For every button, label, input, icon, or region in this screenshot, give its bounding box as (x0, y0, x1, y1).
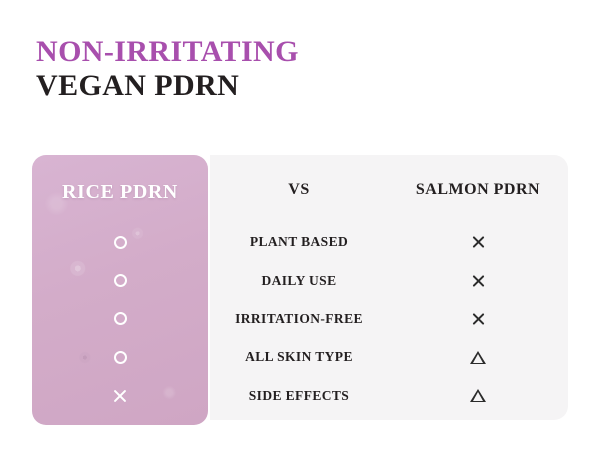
rice-pdrn-mark-side-effects (32, 377, 208, 415)
infographic-root: NON-IRRITATING VEGAN PDRN RICE PDRN (0, 0, 600, 450)
page-title-line-1: NON-IRRITATING (36, 36, 556, 68)
table-row: PLANT BASED (210, 223, 568, 261)
row-mark-daily-use (388, 273, 568, 288)
triangle-icon (470, 389, 486, 402)
rice-pdrn-card-title: RICE PDRN (32, 181, 208, 204)
comparison-table-body: PLANT BASED DAILY USE IRRITATION-FREE (210, 223, 568, 415)
rice-pdrn-mark-all-skin-type (32, 338, 208, 376)
rice-pdrn-card: RICE PDRN (32, 155, 208, 425)
cross-icon (471, 273, 486, 288)
page-title: NON-IRRITATING VEGAN PDRN (36, 36, 556, 102)
cross-icon (471, 311, 486, 326)
table-row: IRRITATION-FREE (210, 300, 568, 338)
rice-pdrn-mark-irritation-free (32, 300, 208, 338)
row-mark-all-skin-type (388, 351, 568, 364)
row-label-all-skin-type: ALL SKIN TYPE (210, 349, 388, 365)
circle-icon (114, 312, 127, 325)
rice-pdrn-mark-daily-use (32, 261, 208, 299)
row-label-plant-based: PLANT BASED (210, 234, 388, 250)
circle-icon (114, 236, 127, 249)
table-row: DAILY USE (210, 261, 568, 299)
row-mark-irritation-free (388, 311, 568, 326)
table-row: ALL SKIN TYPE (210, 338, 568, 376)
comparison-table-header: VS SALMON PDRN (210, 181, 568, 199)
cross-icon (471, 235, 486, 250)
page-title-line-2: VEGAN PDRN (36, 70, 556, 102)
triangle-icon (470, 351, 486, 364)
rice-pdrn-mark-column (32, 223, 208, 415)
comparison-block: RICE PDRN (32, 155, 568, 423)
comparison-table: VS SALMON PDRN PLANT BASED DAILY USE (210, 155, 568, 420)
row-mark-side-effects (388, 389, 568, 402)
row-label-irritation-free: IRRITATION-FREE (210, 311, 388, 327)
rice-pdrn-mark-plant-based (32, 223, 208, 261)
cross-icon (112, 388, 128, 404)
circle-icon (114, 351, 127, 364)
column-header-salmon-pdrn: SALMON PDRN (388, 181, 568, 199)
row-label-side-effects: SIDE EFFECTS (210, 388, 388, 404)
row-label-daily-use: DAILY USE (210, 273, 388, 289)
row-mark-plant-based (388, 235, 568, 250)
circle-icon (114, 274, 127, 287)
column-header-vs: VS (210, 181, 388, 199)
table-row: SIDE EFFECTS (210, 377, 568, 415)
